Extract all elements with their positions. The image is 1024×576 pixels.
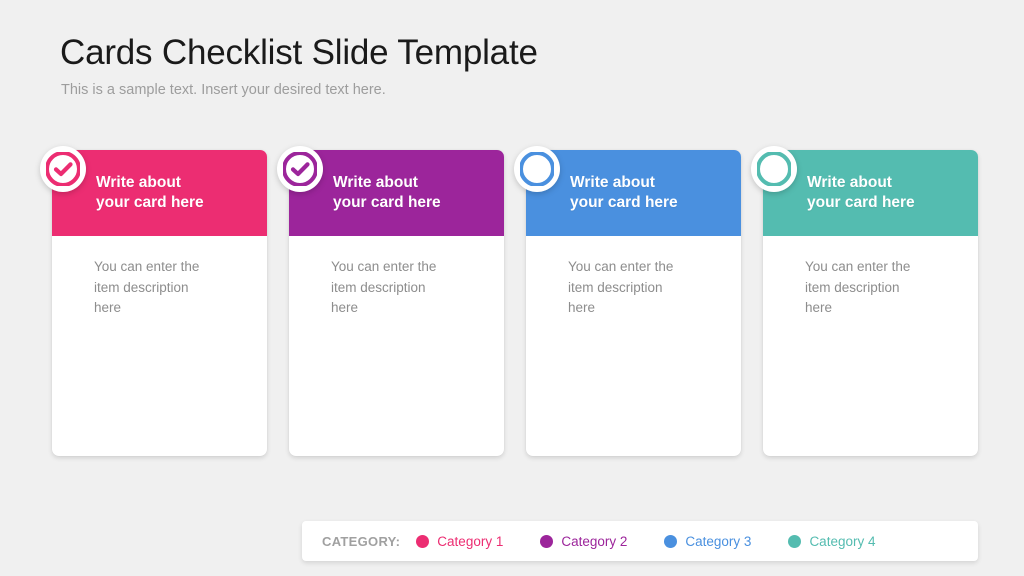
empty-circle-icon[interactable]	[751, 146, 797, 192]
card-1-title: Write about your card here	[96, 173, 204, 214]
legend-dot-icon	[788, 535, 801, 548]
cards-row: Write about your card here You can enter…	[52, 150, 978, 456]
legend-dot-icon	[540, 535, 553, 548]
card-4-body: You can enter the item description here	[763, 236, 978, 456]
card-2-header: Write about your card here	[289, 150, 504, 236]
card-1-header: Write about your card here	[52, 150, 267, 236]
card-3-header: Write about your card here	[526, 150, 741, 236]
card-2-body: You can enter the item description here	[289, 236, 504, 456]
check-circle-icon[interactable]	[277, 146, 323, 192]
card-1-body: You can enter the item description here	[52, 236, 267, 456]
legend-item-3-label: Category 3	[685, 534, 751, 549]
card-2-description: You can enter the item description here	[331, 257, 480, 319]
category-legend: CATEGORY: Category 1 Category 2 Category…	[302, 521, 978, 561]
legend-label: CATEGORY:	[322, 534, 400, 549]
page-title: Cards Checklist Slide Template	[60, 33, 538, 73]
legend-item-4-label: Category 4	[809, 534, 875, 549]
legend-item-2[interactable]: Category 2	[540, 534, 627, 549]
card-3-title: Write about your card here	[570, 173, 678, 214]
card-4-description: You can enter the item description here	[805, 257, 954, 319]
check-circle-icon[interactable]	[40, 146, 86, 192]
card-4-header: Write about your card here	[763, 150, 978, 236]
card-1[interactable]: Write about your card here You can enter…	[52, 150, 267, 456]
card-2[interactable]: Write about your card here You can enter…	[289, 150, 504, 456]
legend-item-4[interactable]: Category 4	[788, 534, 875, 549]
page-subtitle: This is a sample text. Insert your desir…	[61, 82, 386, 98]
card-3-description: You can enter the item description here	[568, 257, 717, 319]
card-3[interactable]: Write about your card here You can enter…	[526, 150, 741, 456]
card-4-title: Write about your card here	[807, 173, 915, 214]
card-1-description: You can enter the item description here	[94, 257, 243, 319]
card-2-title: Write about your card here	[333, 173, 441, 214]
legend-dot-icon	[664, 535, 677, 548]
card-4[interactable]: Write about your card here You can enter…	[763, 150, 978, 456]
legend-item-2-label: Category 2	[561, 534, 627, 549]
slide-canvas: Cards Checklist Slide Template This is a…	[0, 0, 1024, 576]
legend-item-1[interactable]: Category 1	[416, 534, 503, 549]
legend-item-3[interactable]: Category 3	[664, 534, 751, 549]
empty-circle-icon[interactable]	[514, 146, 560, 192]
legend-dot-icon	[416, 535, 429, 548]
legend-item-1-label: Category 1	[437, 534, 503, 549]
card-3-body: You can enter the item description here	[526, 236, 741, 456]
